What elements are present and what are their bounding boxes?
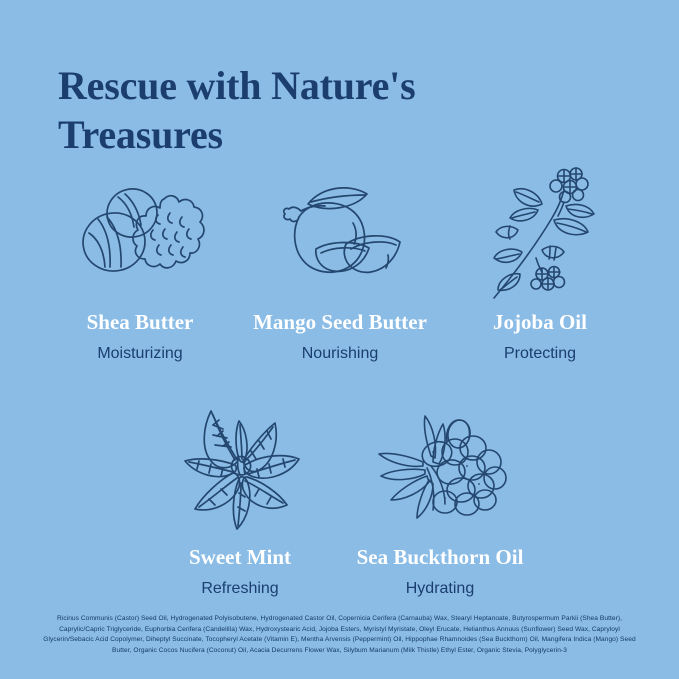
page-title: Rescue with Nature's Treasures — [58, 62, 528, 160]
ingredient-benefit: Refreshing — [201, 580, 278, 598]
ingredient-title: Jojoba Oil — [493, 311, 587, 334]
ingredient-row-2: Sweet Mint Refreshing — [120, 395, 560, 598]
ingredient-title: Sweet Mint — [189, 546, 291, 569]
ingredient-title: Sea Buckthorn Oil — [357, 546, 524, 569]
ingredient-card-mango-seed-butter: Mango Seed Butter Nourishing — [240, 160, 440, 363]
ingredients-list: Ricinus Communis (Castor) Seed Oil, Hydr… — [34, 614, 645, 657]
jojoba-sprig-icon — [480, 160, 600, 305]
ingredient-benefit: Protecting — [504, 345, 576, 363]
infographic-page: Rescue with Nature's Treasures — [0, 0, 679, 679]
ingredient-title: Mango Seed Butter — [253, 311, 427, 334]
ingredient-card-shea-butter: Shea Butter Moisturizing — [40, 160, 240, 363]
sea-buckthorn-berries-icon — [375, 395, 505, 540]
ingredient-card-jojoba-oil: Jojoba Oil Protecting — [440, 160, 640, 363]
mango-fruit-icon — [275, 160, 405, 305]
mint-leaves-icon — [175, 395, 305, 540]
ingredient-benefit: Nourishing — [302, 345, 378, 363]
ingredient-benefit: Moisturizing — [97, 345, 182, 363]
ingredient-benefit: Hydrating — [406, 580, 474, 598]
ingredient-card-sweet-mint: Sweet Mint Refreshing — [140, 395, 340, 598]
ingredient-row-1: Shea Butter Moisturizing — [40, 160, 640, 363]
ingredient-title: Shea Butter — [87, 311, 194, 334]
ingredient-card-sea-buckthorn-oil: Sea Buckthorn Oil Hydrating — [340, 395, 540, 598]
shea-nuts-icon — [76, 160, 204, 305]
